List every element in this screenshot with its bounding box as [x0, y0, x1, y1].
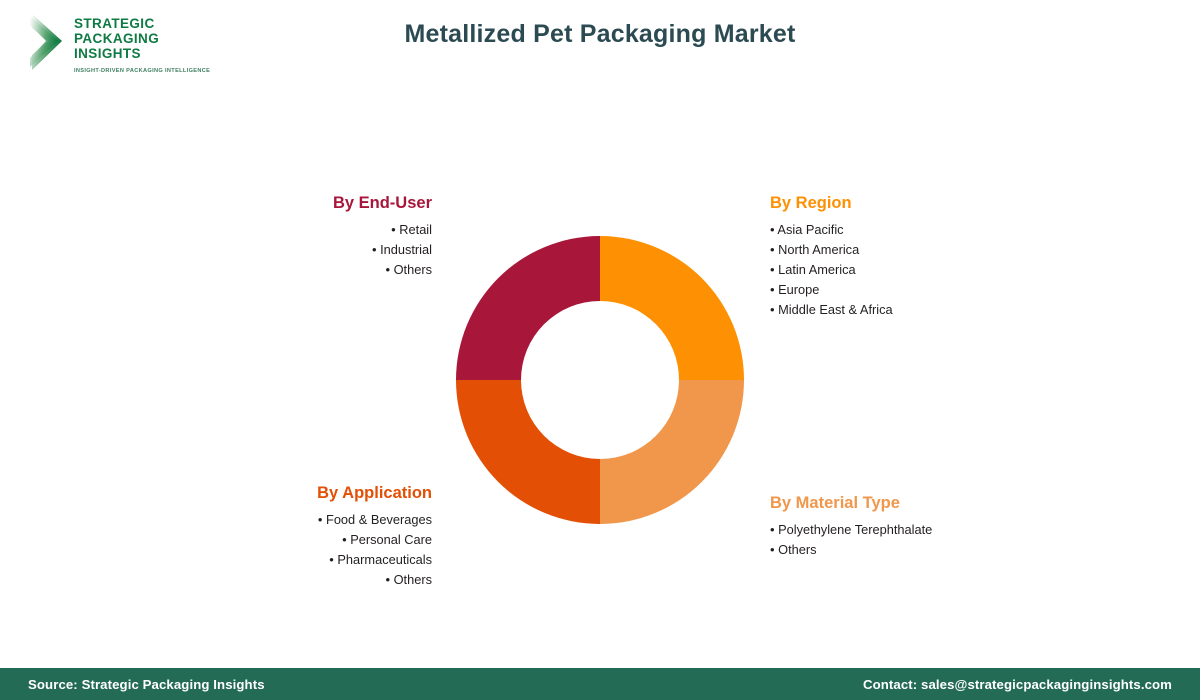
bullet-icon: •: [385, 262, 390, 277]
segment-block-end-user: By End-User • Retail • Industrial • Othe…: [170, 194, 432, 280]
donut-chart: [450, 230, 750, 530]
bullet-icon: •: [770, 522, 775, 537]
list-item: • Personal Care: [140, 530, 432, 550]
list-item-label: Industrial: [380, 242, 432, 257]
bullet-icon: •: [770, 302, 775, 317]
list-item: • Polyethylene Terephthalate: [770, 520, 1090, 540]
page-title: Metallized Pet Packaging Market: [0, 20, 1200, 49]
list-item: • Europe: [770, 280, 1070, 300]
list-item-label: North America: [778, 242, 859, 257]
segment-block-material-type: By Material Type • Polyethylene Terephth…: [770, 494, 1090, 560]
list-item-label: Pharmaceuticals: [337, 552, 432, 567]
bullet-icon: •: [770, 242, 775, 257]
segment-heading-region: By Region: [770, 194, 1070, 213]
bullet-icon: •: [342, 532, 347, 547]
segment-block-region: By Region • Asia Pacific • North America…: [770, 194, 1070, 320]
list-item: • Asia Pacific: [770, 220, 1070, 240]
bullet-icon: •: [770, 222, 775, 237]
segment-heading-material-type: By Material Type: [770, 494, 1090, 513]
list-item-label: Polyethylene Terephthalate: [778, 522, 932, 537]
bullet-icon: •: [372, 242, 377, 257]
bullet-icon: •: [770, 542, 775, 557]
list-item: • Others: [170, 260, 432, 280]
list-item: • Pharmaceuticals: [140, 550, 432, 570]
list-item-label: Asia Pacific: [777, 222, 843, 237]
list-item: • Retail: [170, 220, 432, 240]
bullet-icon: •: [770, 262, 775, 277]
list-item: • Food & Beverages: [140, 510, 432, 530]
list-item-label: Middle East & Africa: [778, 302, 893, 317]
segment-list-material-type: • Polyethylene Terephthalate • Others: [770, 520, 1090, 560]
list-item-label: Latin America: [778, 262, 856, 277]
list-item-label: Others: [778, 542, 816, 557]
footer-contact[interactable]: Contact: sales@strategicpackaginginsight…: [863, 677, 1172, 692]
bullet-icon: •: [385, 572, 390, 587]
list-item: • Others: [140, 570, 432, 590]
donut-center-hole: [521, 301, 679, 459]
bullet-icon: •: [329, 552, 334, 567]
list-item-label: Others: [394, 262, 432, 277]
list-item-label: Europe: [778, 282, 819, 297]
list-item-label: Personal Care: [350, 532, 432, 547]
list-item: • Middle East & Africa: [770, 300, 1070, 320]
bullet-icon: •: [318, 512, 323, 527]
segment-list-end-user: • Retail • Industrial • Others: [170, 220, 432, 280]
brand-tagline: INSIGHT-DRIVEN PACKAGING INTELLIGENCE: [74, 68, 210, 74]
segment-heading-end-user: By End-User: [170, 194, 432, 213]
segment-block-application: By Application • Food & Beverages • Pers…: [140, 484, 432, 590]
segment-list-region: • Asia Pacific • North America • Latin A…: [770, 220, 1070, 320]
list-item: • North America: [770, 240, 1070, 260]
bullet-icon: •: [391, 222, 396, 237]
list-item: • Others: [770, 540, 1090, 560]
footer-bar: Source: Strategic Packaging Insights Con…: [0, 668, 1200, 700]
infographic-page: STRATEGIC PACKAGING INSIGHTS INSIGHT-DRI…: [0, 0, 1200, 700]
list-item-label: Others: [394, 572, 432, 587]
bullet-icon: •: [770, 282, 775, 297]
list-item: • Latin America: [770, 260, 1070, 280]
list-item-label: Retail: [399, 222, 432, 237]
segment-heading-application: By Application: [140, 484, 432, 503]
list-item: • Industrial: [170, 240, 432, 260]
list-item-label: Food & Beverages: [326, 512, 432, 527]
footer-source: Source: Strategic Packaging Insights: [28, 677, 265, 692]
segment-list-application: • Food & Beverages • Personal Care • Pha…: [140, 510, 432, 590]
